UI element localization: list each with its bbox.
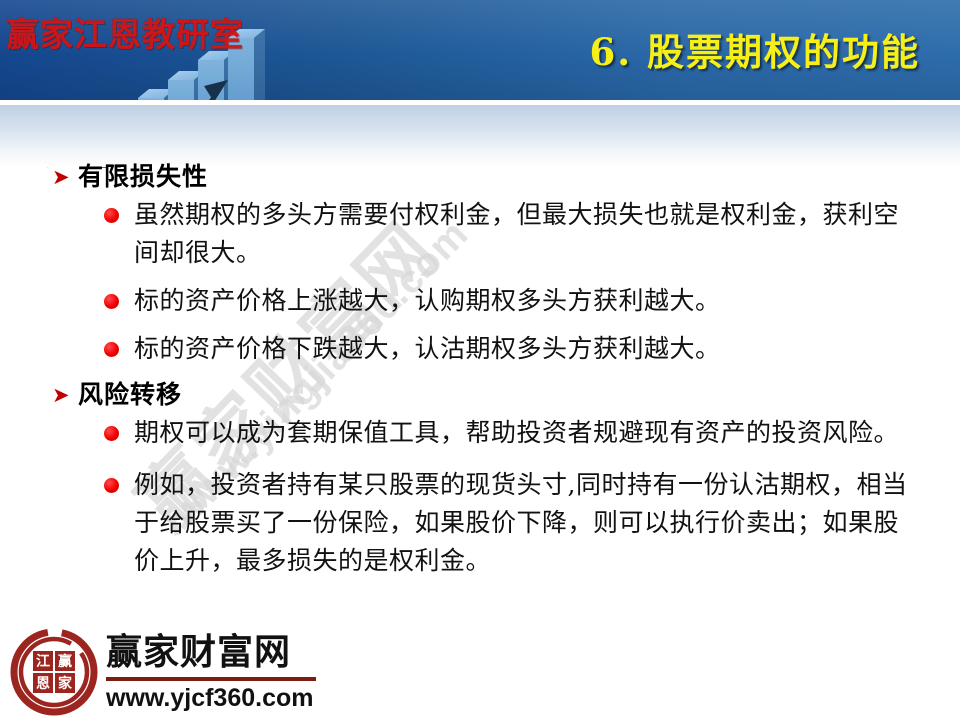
seal-char-3: 家: [58, 675, 73, 692]
brand-rule: [106, 677, 316, 681]
dot-bullet-icon: [104, 282, 134, 309]
arrow-bullet-icon: ➤: [52, 160, 78, 194]
spacer: [0, 368, 960, 378]
section-heading-label: 风险转移: [78, 378, 182, 412]
spacer: [0, 320, 960, 330]
brand-name: 赢家财富网: [106, 632, 316, 674]
seal-char-2: 恩: [36, 676, 50, 692]
list-item: 标的资产价格上涨越大，认购期权多头方获利越大。: [104, 282, 960, 320]
section-heading-2: ➤ 风险转移: [52, 378, 960, 412]
section-heading-label: 有限损失性: [78, 160, 208, 194]
brand-url: www.yjcf360.com: [106, 684, 316, 712]
header-fade-band: [0, 105, 960, 167]
list-item-text: 期权可以成为套期保值工具，帮助投资者规避现有资产的投资风险。: [134, 414, 899, 452]
dot-bullet-icon: [104, 414, 134, 441]
list-item: 虽然期权的多头方需要付权利金，但最大损失也就是权利金，获利空间却很大。: [104, 196, 960, 272]
seal-char-0: 江: [36, 653, 50, 670]
slide-footer: 江 赢 恩 家 赢家财富网 www.yjcf360.com 地址：郑州市经三路与…: [0, 624, 960, 720]
section-heading-1: ➤ 有限损失性: [52, 160, 960, 194]
slide-body: ➤ 有限损失性 虽然期权的多头方需要付权利金，但最大损失也就是权利金，获利空间却…: [0, 160, 960, 580]
seal-char-1: 赢: [58, 653, 72, 670]
page-title: 6. 股票期权的功能: [589, 22, 920, 76]
list-item: 期权可以成为套期保值工具，帮助投资者规避现有资产的投资风险。: [104, 414, 960, 452]
list-item-text: 标的资产价格下跌越大，认沽期权多头方获利越大。: [134, 330, 721, 368]
list-item-text: 标的资产价格上涨越大，认购期权多头方获利越大。: [134, 282, 721, 320]
brand-text-block: 赢家财富网 www.yjcf360.com: [106, 632, 316, 712]
brand-logo: 江 赢 恩 家 赢家财富网 www.yjcf360.com: [8, 626, 316, 718]
list-item: 标的资产价格下跌越大，认沽期权多头方获利越大。: [104, 330, 960, 368]
list-item: 例如，投资者持有某只股票的现货头寸,同时持有一份认沽期权，相当于给股票买了一份保…: [104, 466, 960, 580]
list-item-text: 例如，投资者持有某只股票的现货头寸,同时持有一份认沽期权，相当于给股票买了一份保…: [134, 466, 924, 580]
spacer: [0, 272, 960, 282]
slide-root: 赢家江恩教研室 6. 股票期权的功能 赢家财富网 www.yingjia360.…: [0, 0, 960, 720]
dot-bullet-icon: [104, 330, 134, 357]
list-item-text: 虽然期权的多头方需要付权利金，但最大损失也就是权利金，获利空间却很大。: [134, 196, 924, 272]
dot-bullet-icon: [104, 196, 134, 223]
spacer: [0, 452, 960, 466]
arrow-bullet-icon: ➤: [52, 378, 78, 412]
header-watermark-text: 赢家江恩教研室: [6, 8, 244, 56]
dot-bullet-icon: [104, 466, 134, 493]
seal-icon: 江 赢 恩 家: [8, 626, 100, 718]
